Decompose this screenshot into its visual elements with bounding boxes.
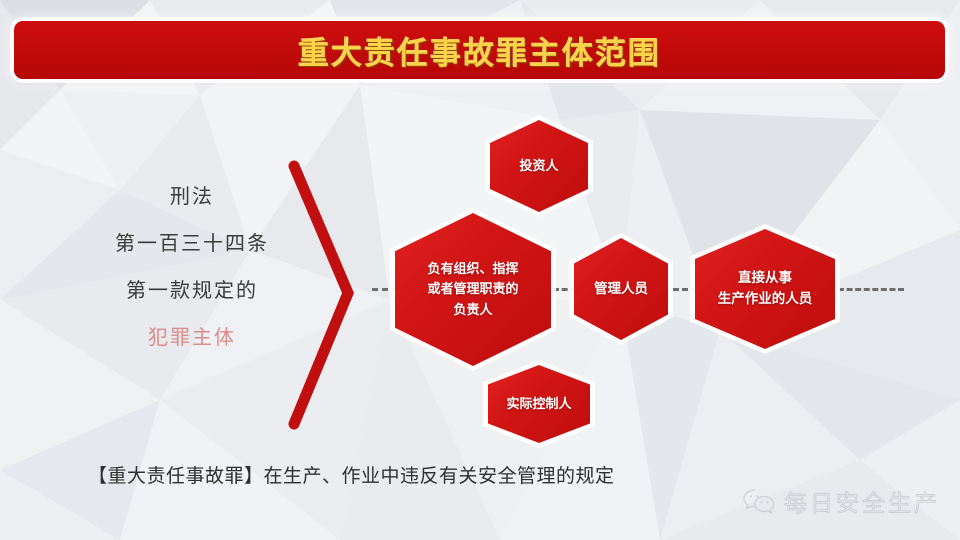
hex-label-line-1: 负有组织、指挥 <box>427 261 518 276</box>
slide-caption: 【重大责任事故罪】在生产、作业中违反有关安全管理的规定 <box>88 461 615 488</box>
hex-label-line-3: 负责人 <box>453 302 492 317</box>
legal-reference-block: 刑法 第一百三十四条 第一款规定的 犯罪主体 <box>92 186 292 349</box>
page-title: 重大责任事故罪主体范围 <box>298 28 661 73</box>
legal-line-1: 刑法 <box>92 186 292 208</box>
connector-dash-right <box>838 288 904 291</box>
hex-label-actual-controller: 实际控制人 <box>502 394 575 414</box>
hex-label-line-1: 直接从事 <box>738 270 792 285</box>
legal-line-3: 第一款规定的 <box>92 280 292 302</box>
watermark-label: 每日安全生产 <box>784 484 940 518</box>
hex-label-line-2: 生产作业的人员 <box>718 291 813 306</box>
watermark: 每日安全生产 <box>742 484 940 518</box>
hex-label-production-worker: 直接从事 生产作业的人员 <box>714 268 817 310</box>
legal-line-subject-highlight: 犯罪主体 <box>92 327 292 349</box>
presentation-slide: 重大责任事故罪主体范围 刑法 第一百三十四条 第一款规定的 犯罪主体 投资人 负… <box>0 0 960 540</box>
hex-label-responsible-person: 负有组织、指挥 或者管理职责的 负责人 <box>423 259 522 319</box>
wechat-icon <box>742 488 776 515</box>
hex-label-investor: 投资人 <box>515 156 562 176</box>
red-chevron-icon <box>282 160 362 430</box>
hex-label-management-staff: 管理人员 <box>590 279 652 300</box>
hex-label-line-2: 或者管理职责的 <box>427 281 518 296</box>
legal-line-2: 第一百三十四条 <box>92 233 292 255</box>
slide-title-banner: 重大责任事故罪主体范围 <box>14 21 945 79</box>
